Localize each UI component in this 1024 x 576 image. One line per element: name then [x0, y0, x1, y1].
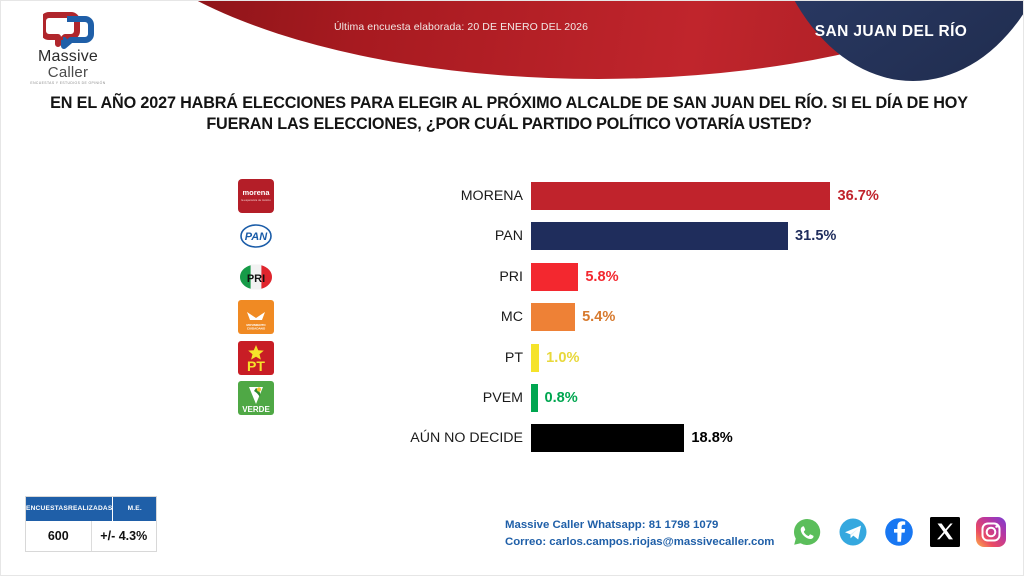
- question-title: EN EL AÑO 2027 HABRÁ ELECCIONES PARA ELE…: [33, 93, 985, 136]
- svg-text:PAN: PAN: [245, 231, 268, 243]
- chart-value-label: 31.5%: [795, 219, 836, 253]
- whatsapp-contact-line: Massive Caller Whatsapp: 81 1798 1079: [505, 517, 805, 534]
- chart-bar-wrapper: 0.8%: [531, 381, 658, 415]
- chart-category-label: PRI: [301, 260, 523, 294]
- instagram-icon[interactable]: [975, 516, 1007, 548]
- chart-bar-wrapper: 18.8%: [531, 421, 804, 455]
- chart-row: MOVIMIENTO CIUDADANOMC5.4%: [1, 300, 1024, 334]
- speech-bubble-icon: [43, 9, 95, 49]
- chart-row: PRIPRI5.8%: [1, 260, 1024, 294]
- chart-value-label: 5.8%: [585, 260, 618, 294]
- chart-bar-wrapper: 5.4%: [531, 300, 695, 334]
- sample-table-header-margin: M.E.: [113, 497, 156, 521]
- svg-text:morena: morena: [242, 188, 270, 197]
- email-contact-line: Correo: carlos.campos.riojas@massivecall…: [505, 534, 805, 551]
- chart-row: AÚN NO DECIDE18.8%: [1, 421, 1024, 455]
- whatsapp-icon[interactable]: [791, 516, 823, 548]
- pt-logo: PT: [235, 340, 277, 376]
- chart-row: PTPT1.0%: [1, 341, 1024, 375]
- brand-logo: Massive Caller ENCUESTAS Y ESTUDIOS DE O…: [23, 7, 113, 91]
- margin-error-value: +/- 4.3%: [92, 521, 157, 551]
- question-title-line2-bold: ¿POR CUÁL PARTIDO POLÍTICO VOTARÍA USTED…: [426, 115, 812, 133]
- question-title-line2-normal: FUERAN LAS ELECCIONES,: [206, 115, 426, 133]
- sample-size-table: ENCUESTAS REALIZADAS M.E. 600 +/- 4.3%: [25, 496, 157, 552]
- chart-value-label: 1.0%: [546, 341, 579, 375]
- chart-bar: [531, 303, 575, 331]
- chart-bar: [531, 222, 788, 250]
- chart-bar: [531, 384, 538, 412]
- svg-text:la esperanza de méxico: la esperanza de méxico: [241, 198, 271, 202]
- chart-category-label: PVEM: [301, 381, 523, 415]
- chart-bar-wrapper: 1.0%: [531, 341, 659, 375]
- svg-text:VERDE: VERDE: [242, 405, 270, 414]
- sample-header-line2: REALIZADAS: [68, 505, 113, 513]
- sample-table-header-row: ENCUESTAS REALIZADAS M.E.: [26, 497, 156, 521]
- chart-row: morena la esperanza de méxicoMORENA36.7%: [1, 179, 1024, 213]
- brand-name-line2: Caller: [23, 65, 113, 80]
- brand-name-line1: Massive: [23, 49, 113, 65]
- sample-table-value-row: 600 +/- 4.3%: [26, 521, 156, 551]
- chart-category-label: PAN: [301, 219, 523, 253]
- morena-logo: morena la esperanza de méxico: [235, 178, 277, 214]
- chart-bar: [531, 263, 578, 291]
- header-banner: Última encuesta elaborada: 20 DE ENERO D…: [1, 1, 1024, 87]
- telegram-icon[interactable]: [837, 516, 869, 548]
- sample-size-value: 600: [26, 521, 92, 551]
- chart-bar-wrapper: 5.8%: [531, 260, 698, 294]
- pvem-logo: VERDE: [235, 380, 277, 416]
- chart-row: VERDEPVEM0.8%: [1, 381, 1024, 415]
- chart-bar: [531, 182, 830, 210]
- pri-logo: PRI: [235, 259, 277, 295]
- chart-bar-wrapper: 31.5%: [531, 219, 908, 253]
- chart-bar-wrapper: 36.7%: [531, 179, 950, 213]
- svg-text:PT: PT: [247, 358, 265, 374]
- chart-value-label: 5.4%: [582, 300, 615, 334]
- chart-value-label: 18.8%: [691, 421, 732, 455]
- chart-category-label: PT: [301, 341, 523, 375]
- pan-logo: PAN: [235, 218, 277, 254]
- chart-value-label: 36.7%: [837, 179, 878, 213]
- facebook-icon[interactable]: [883, 516, 915, 548]
- chart-value-label: 0.8%: [545, 381, 578, 415]
- chart-bar: [531, 424, 684, 452]
- poll-infographic: Última encuesta elaborada: 20 DE ENERO D…: [0, 0, 1024, 576]
- chart-category-label: MC: [301, 300, 523, 334]
- results-bar-chart: morena la esperanza de méxicoMORENA36.7%…: [1, 179, 1024, 464]
- sample-table-header-surveys: ENCUESTAS REALIZADAS: [26, 497, 113, 521]
- chart-category-label: MORENA: [301, 179, 523, 213]
- x-twitter-icon[interactable]: [929, 516, 961, 548]
- brand-tagline: ENCUESTAS Y ESTUDIOS DE OPINIÓN: [23, 81, 113, 85]
- chart-bar: [531, 344, 539, 372]
- question-title-line1: EN EL AÑO 2027 HABRÁ ELECCIONES PARA ELE…: [50, 94, 968, 112]
- chart-category-label: AÚN NO DECIDE: [301, 421, 523, 455]
- svg-text:CIUDADANO: CIUDADANO: [247, 327, 266, 331]
- city-name: SAN JUAN DEL RÍO: [771, 23, 1011, 41]
- sample-header-line1: ENCUESTAS: [26, 505, 68, 513]
- mc-logo: MOVIMIENTO CIUDADANO: [235, 299, 277, 335]
- contact-info: Massive Caller Whatsapp: 81 1798 1079 Co…: [505, 517, 805, 550]
- survey-date-text: Última encuesta elaborada: 20 DE ENERO D…: [251, 21, 671, 33]
- svg-text:PRI: PRI: [247, 273, 265, 285]
- social-links: [791, 513, 1011, 551]
- chart-row: PANPAN31.5%: [1, 219, 1024, 253]
